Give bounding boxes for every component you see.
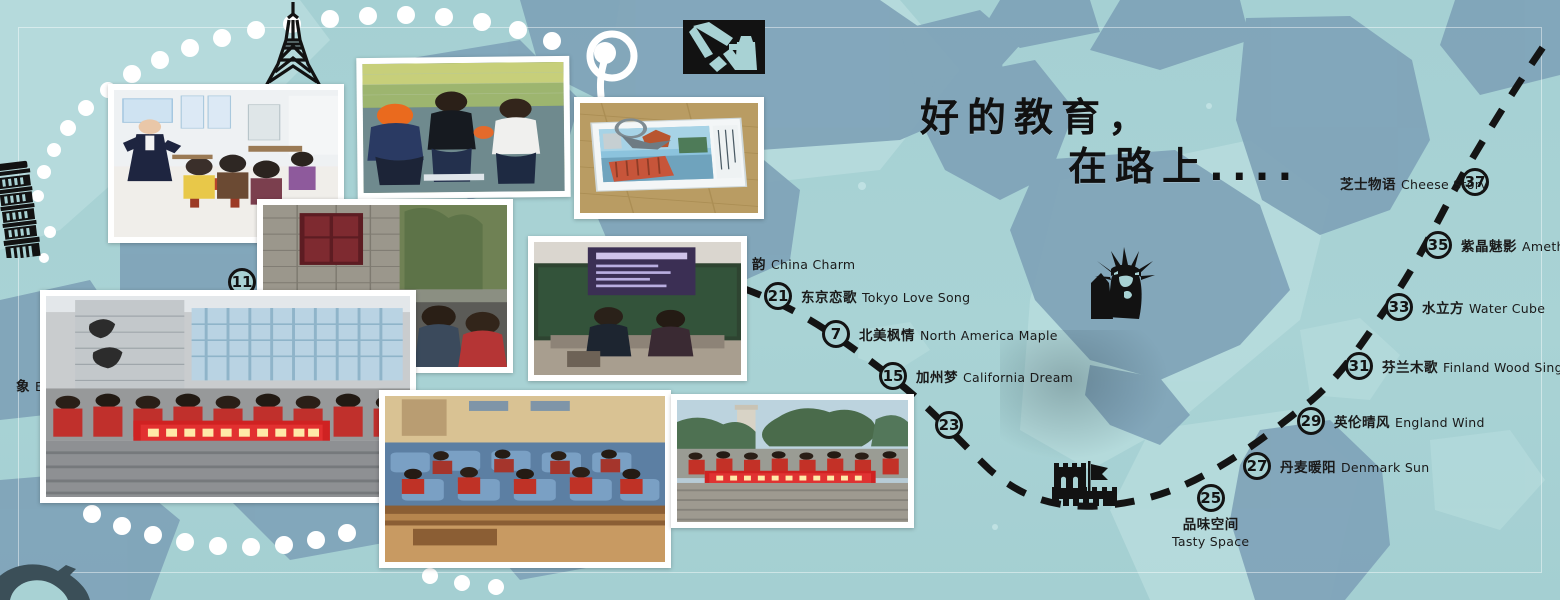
eiffel-tower-icon [258, 0, 328, 88]
node-7[interactable]: 7北美枫情North America Maple [822, 320, 1058, 348]
node-35-label: 紫晶魅影Amethyst Ch [1461, 235, 1560, 255]
node-33[interactable]: 33水立方Water Cube [1385, 293, 1545, 321]
node-27-label-en: Denmark Sun [1341, 460, 1430, 475]
node-27-badge[interactable]: 27 [1243, 452, 1271, 480]
node-25[interactable]: 25品味空间Tasty Space [1172, 484, 1249, 551]
node-15-label: 加州梦California Dream [916, 366, 1073, 386]
label-cheese-story-label: 芝士物语Cheese Story [1340, 173, 1488, 193]
photo-memorial-group-image [677, 400, 908, 522]
label-china-charm-cn: 韵 [752, 257, 766, 273]
windmill-icon [683, 20, 765, 74]
photo-memorial-group[interactable] [671, 394, 914, 528]
node-29-label: 英伦晴风England Wind [1334, 411, 1485, 431]
node-7-label: 北美枫情North America Maple [859, 324, 1058, 344]
label-china-charm: 韵China Charm [752, 253, 855, 273]
node-27-label-cn: 丹麦暖阳 [1280, 460, 1336, 476]
bridge-icon [0, 555, 100, 600]
node-15-label-cn: 加州梦 [916, 370, 958, 386]
node-7-badge[interactable]: 7 [822, 320, 850, 348]
node-21-label-cn: 东京恋歌 [801, 290, 857, 306]
node-21-label: 东京恋歌Tokyo Love Song [801, 286, 970, 306]
node-25-label-cn: 品味空间 [1172, 516, 1249, 534]
photo-auditorium-image [385, 396, 665, 562]
travel-route-poster: 好的教育， 在路上.... [0, 0, 1560, 600]
node-31[interactable]: 31芬兰木歌Finland Wood Singing [1345, 352, 1560, 380]
node-25-label: 品味空间Tasty Space [1172, 516, 1249, 551]
node-7-label-en: North America Maple [920, 328, 1058, 343]
node-15-label-en: California Dream [963, 370, 1073, 385]
node-21-badge[interactable]: 21 [764, 282, 792, 310]
photo-lecture-hall-stage-image [534, 242, 741, 375]
node-23-badge[interactable]: 23 [935, 411, 963, 439]
node-15[interactable]: 15加州梦California Dream [879, 362, 1073, 390]
statue-of-liberty-icon [1083, 243, 1161, 321]
node-33-label-cn: 水立方 [1422, 301, 1464, 317]
node-33-label-en: Water Cube [1469, 301, 1545, 316]
photo-group-steps[interactable] [40, 290, 416, 503]
node-21[interactable]: 21东京恋歌Tokyo Love Song [764, 282, 970, 310]
node-27-label: 丹麦暖阳Denmark Sun [1280, 456, 1430, 476]
title-line-1: 好的教育， [920, 95, 1300, 144]
node-31-label: 芬兰木歌Finland Wood Singing [1382, 356, 1560, 376]
node-33-label: 水立方Water Cube [1422, 297, 1545, 317]
label-cheese-story-cn: 芝士物语 [1340, 177, 1396, 193]
photo-group-steps-image [46, 296, 410, 497]
node-15-badge[interactable]: 15 [879, 362, 907, 390]
label-china-charm-label: 韵China Charm [752, 253, 855, 273]
photo-auditorium[interactable] [379, 390, 671, 568]
node-29[interactable]: 29英伦晴风England Wind [1297, 407, 1485, 435]
node-31-label-cn: 芬兰木歌 [1382, 360, 1438, 376]
photo-postcard-keyring[interactable] [574, 97, 764, 219]
node-31-badge[interactable]: 31 [1345, 352, 1373, 380]
node-23[interactable]: 23 [935, 411, 963, 439]
photo-lecture-hall-stage[interactable] [528, 236, 747, 381]
photo-outdoor-activity[interactable] [356, 56, 570, 199]
photo-postcard-keyring-image [580, 103, 758, 213]
photo-outdoor-activity-image [362, 62, 564, 193]
title-line-2: 在路上.... [1068, 144, 1300, 193]
node-33-badge[interactable]: 33 [1385, 293, 1413, 321]
label-china-charm-en: China Charm [771, 257, 855, 272]
label-cheese-story: 芝士物语Cheese Story [1340, 173, 1488, 193]
node-29-label-en: England Wind [1395, 415, 1485, 430]
node-29-badge[interactable]: 29 [1297, 407, 1325, 435]
node-35-badge[interactable]: 35 [1424, 231, 1452, 259]
node-21-label-en: Tokyo Love Song [862, 290, 970, 305]
node-29-label-cn: 英伦晴风 [1334, 415, 1390, 431]
node-7-label-cn: 北美枫情 [859, 328, 915, 344]
node-35[interactable]: 35紫晶魅影Amethyst Ch [1424, 231, 1560, 259]
node-25-badge[interactable]: 25 [1197, 484, 1225, 512]
node-35-label-en: Amethyst Ch [1522, 239, 1560, 254]
label-cheese-story-en: Cheese Story [1401, 177, 1488, 192]
node-35-label-cn: 紫晶魅影 [1461, 239, 1517, 255]
leaning-tower-of-pisa-icon [0, 148, 42, 258]
castle-icon [1050, 455, 1122, 509]
node-31-label-en: Finland Wood Singing [1443, 360, 1560, 375]
label-elephant-partial-cn: 象 [16, 379, 30, 395]
node-25-label-en: Tasty Space [1172, 534, 1249, 551]
poster-title: 好的教育， 在路上.... [920, 95, 1300, 193]
node-27[interactable]: 27丹麦暖阳Denmark Sun [1243, 452, 1430, 480]
